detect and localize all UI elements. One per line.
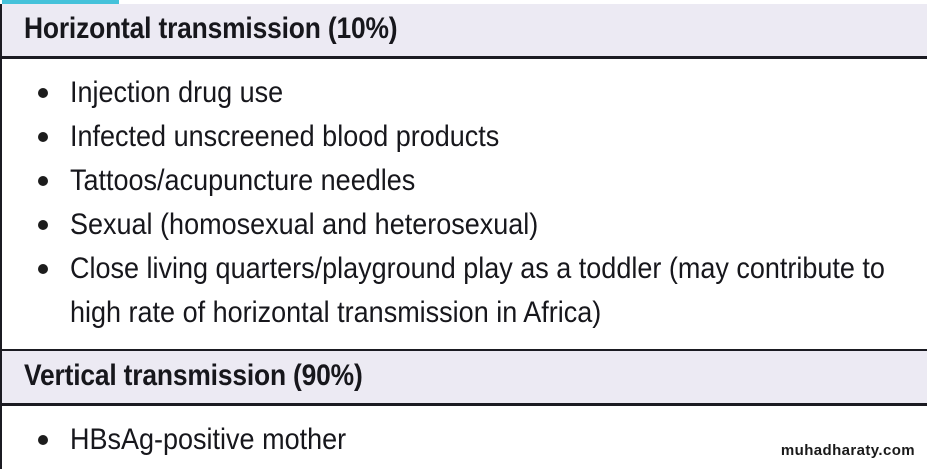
list-item: Sexual (homosexual and heterosexual)	[2, 203, 927, 247]
list-item-label: Injection drug use	[70, 71, 896, 115]
list-item-label: Sexual (homosexual and heterosexual)	[70, 203, 896, 247]
bullet-dot-icon	[38, 220, 48, 230]
bullet-dot-icon	[38, 435, 48, 445]
watermark: muhadharaty.com	[781, 442, 915, 459]
section-body-vertical: HBsAg-positive mother	[2, 406, 927, 469]
list-item-label: Infected unscreened blood products	[70, 115, 896, 159]
list-item-label: Tattoos/acupuncture needles	[70, 159, 896, 203]
section-title: Vertical transmission (90%)	[24, 357, 819, 395]
transmission-table: Horizontal transmission (10%) Injection …	[0, 4, 927, 469]
list-item: Injection drug use	[2, 71, 927, 115]
bullet-dot-icon	[38, 264, 48, 274]
bullet-dot-icon	[38, 132, 48, 142]
bullet-dot-icon	[38, 88, 48, 98]
list-item-label: HBsAg-positive mother	[70, 418, 896, 462]
bullet-list-horizontal: Injection drug use Infected unscreened b…	[2, 71, 927, 335]
list-item: Close living quarters/playground play as…	[2, 247, 927, 335]
section-body-horizontal: Injection drug use Infected unscreened b…	[2, 59, 927, 349]
section-title: Horizontal transmission (10%)	[24, 10, 819, 48]
section-header-vertical: Vertical transmission (90%)	[2, 349, 927, 406]
bullet-dot-icon	[38, 176, 48, 186]
slide-page: Horizontal transmission (10%) Injection …	[0, 0, 927, 469]
list-item: Infected unscreened blood products	[2, 115, 927, 159]
section-header-horizontal: Horizontal transmission (10%)	[2, 4, 927, 59]
list-item: Tattoos/acupuncture needles	[2, 159, 927, 203]
list-item-label: Close living quarters/playground play as…	[70, 247, 896, 335]
